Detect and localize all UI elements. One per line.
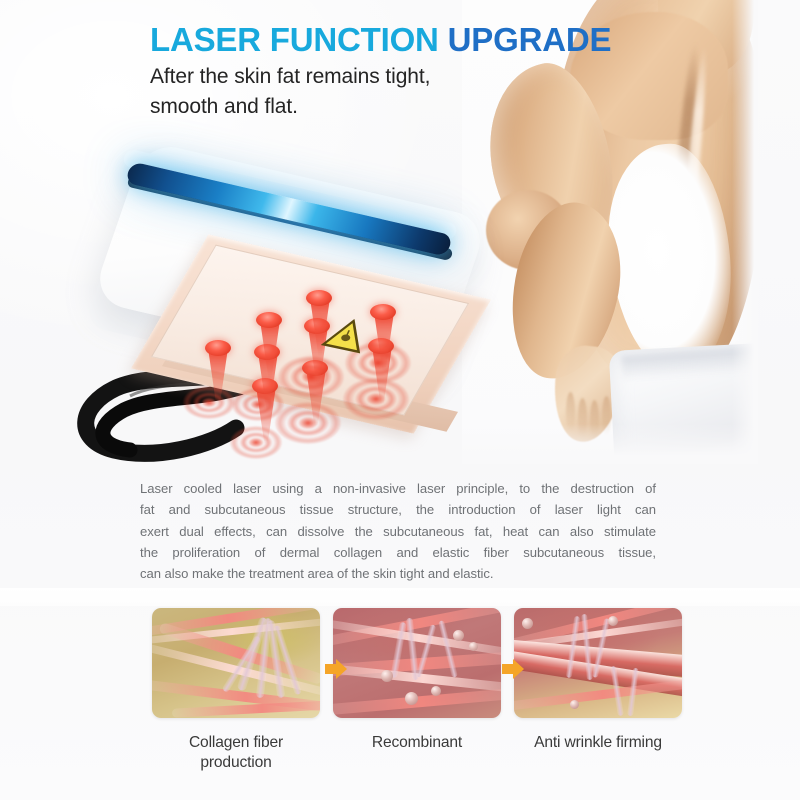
stage-caption-1-line-2: production (152, 753, 320, 773)
laser-dot (205, 340, 231, 356)
description-paragraph: Laser cooled laser using a non-invasive … (140, 478, 656, 585)
particle (522, 618, 533, 629)
particle (608, 616, 618, 626)
product-feature-banner: LASER FUNCTION UPGRADE After the skin fa… (0, 0, 800, 800)
headline-part-2: UPGRADE (448, 21, 612, 58)
arrow-right-icon-2 (500, 656, 526, 682)
photo-right-fade (732, 0, 758, 464)
particle (469, 642, 478, 651)
stage-caption-3: Anti wrinkle firming (514, 733, 682, 773)
stage-image-1 (152, 608, 320, 718)
laser-ring (275, 402, 341, 444)
laser-ring (343, 378, 409, 420)
arrow-right-icon-1 (323, 656, 349, 682)
description-line-4: the proliferation of dermal collagen and… (140, 542, 656, 563)
description-line-2: fat and subcutaneous tissue structure, t… (140, 499, 656, 520)
laser-dot (306, 290, 332, 306)
laser-ring (183, 386, 235, 419)
laser-dot (370, 304, 396, 320)
subtitle-line-2: smooth and flat. (150, 92, 570, 122)
stage-image-row (152, 608, 682, 718)
stage-image-3 (514, 608, 682, 718)
particle (431, 686, 441, 696)
page-title: LASER FUNCTION UPGRADE (150, 22, 590, 58)
stage-caption-2-line-1: Recombinant (333, 733, 501, 753)
stage-image-2 (333, 608, 501, 718)
stage-caption-2: Recombinant (333, 733, 501, 773)
subtitle-line-1: After the skin fat remains tight, (150, 62, 570, 92)
description-line-1: Laser cooled laser using a non-invasive … (140, 478, 656, 499)
headline-part-1: LASER FUNCTION (150, 21, 448, 58)
stage-caption-row: Collagen fiber production Recombinant An… (152, 733, 682, 773)
particle (381, 670, 393, 682)
description-line-5: can also make the treatment area of the … (140, 563, 656, 584)
page-subtitle: After the skin fat remains tight, smooth… (150, 62, 570, 122)
stage-caption-1-line-1: Collagen fiber (152, 733, 320, 753)
section-divider (0, 588, 800, 606)
laser-dot (256, 312, 282, 328)
laser-ring (230, 426, 282, 459)
laser-ring (278, 356, 344, 398)
particle (453, 630, 464, 641)
particle (570, 700, 579, 709)
stage-caption-3-line-1: Anti wrinkle firming (514, 733, 682, 753)
stage-caption-1: Collagen fiber production (152, 733, 320, 773)
particle (405, 692, 418, 705)
description-line-3: exert dual effects, can dissolve the sub… (140, 521, 656, 542)
